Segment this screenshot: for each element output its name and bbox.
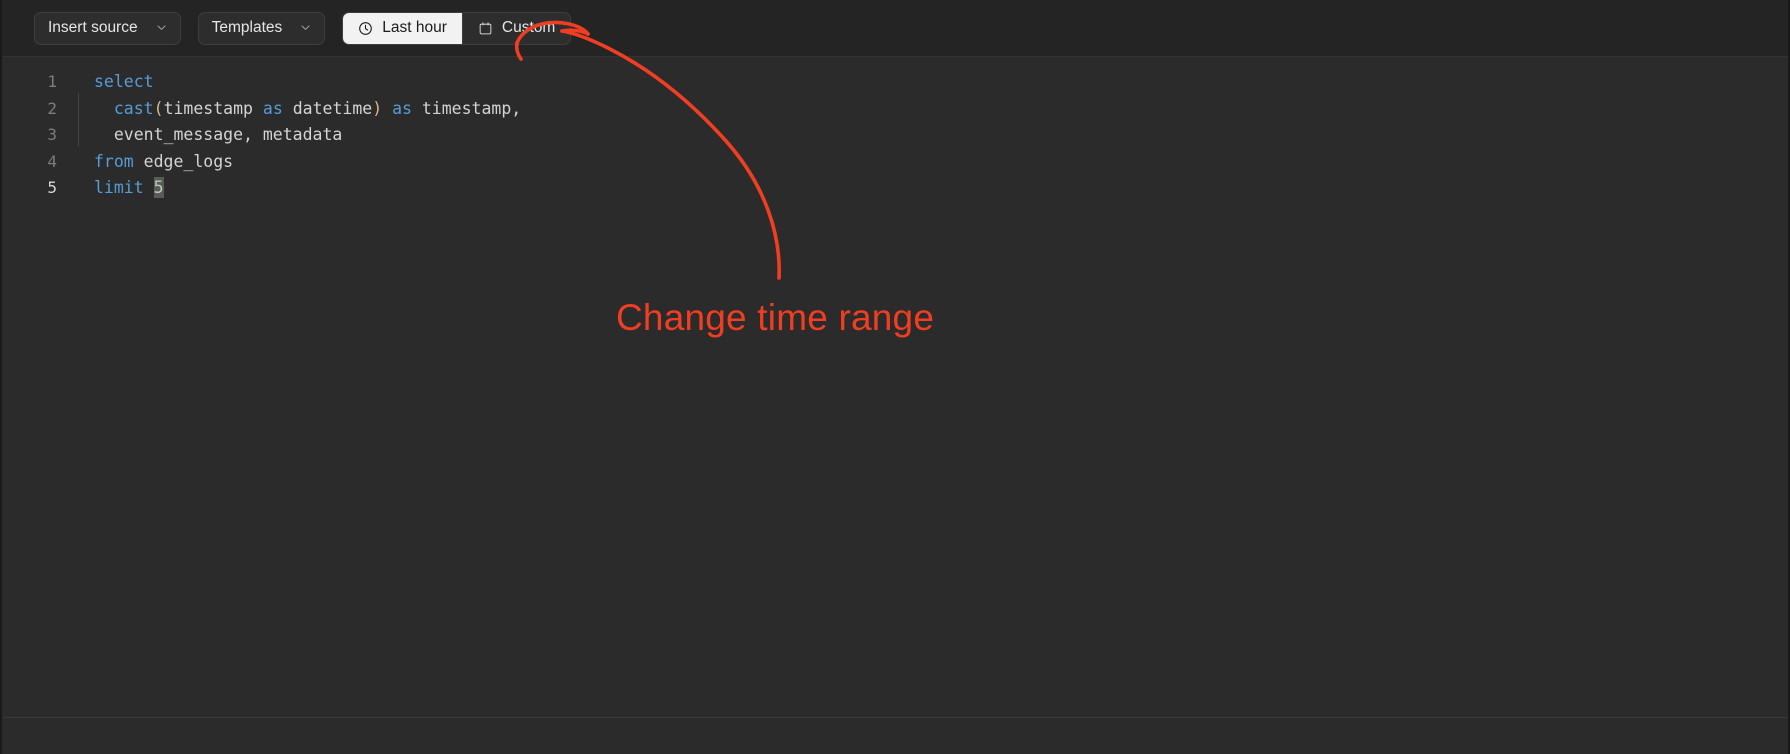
line-number: 4 — [2, 149, 57, 176]
token-keyword: select — [94, 72, 154, 91]
token-plain: datetime — [283, 99, 372, 118]
token-keyword: limit — [94, 178, 144, 197]
token-paren: ( — [154, 99, 164, 118]
token-keyword: as — [263, 99, 283, 118]
line-number: 5 — [2, 175, 57, 202]
code-line[interactable]: 3 event_message, metadata — [2, 122, 1788, 149]
indent-guide — [78, 119, 79, 146]
time-range-segmented-control: Last hour Custom — [342, 12, 571, 45]
sql-code-editor[interactable]: 1 select 2 cast(timestamp as datetime) a… — [2, 57, 1788, 735]
line-content: from edge_logs — [57, 149, 233, 176]
templates-label: Templates — [212, 20, 283, 36]
code-line-active[interactable]: 5 limit 5 — [2, 175, 1788, 202]
indent-guide — [78, 93, 79, 120]
line-content: select — [57, 69, 154, 96]
code-lines: 1 select 2 cast(timestamp as datetime) a… — [2, 69, 1788, 202]
code-line[interactable]: 4 from edge_logs — [2, 149, 1788, 176]
last-hour-label: Last hour — [382, 19, 447, 37]
token-plain — [382, 99, 392, 118]
token-plain: event_message, metadata — [94, 125, 342, 144]
code-line[interactable]: 2 cast(timestamp as datetime) as timesta… — [2, 96, 1788, 123]
token-plain — [94, 99, 114, 118]
token-function: cast — [114, 99, 154, 118]
editor-toolbar: Insert source Templates — [2, 0, 1788, 57]
line-content: limit 5 — [57, 175, 164, 202]
token-keyword: from — [94, 152, 134, 171]
custom-label: Custom — [502, 19, 555, 37]
token-plain: timestamp, — [412, 99, 521, 118]
last-hour-time-range-button[interactable]: Last hour — [343, 13, 462, 44]
code-line[interactable]: 1 select — [2, 69, 1788, 96]
line-number: 3 — [2, 122, 57, 149]
clock-icon — [358, 21, 373, 36]
line-content: cast(timestamp as datetime) as timestamp… — [57, 96, 521, 123]
line-content: event_message, metadata — [57, 122, 342, 149]
token-number-selected: 5 — [154, 177, 164, 198]
token-keyword: as — [392, 99, 412, 118]
token-paren: ) — [372, 99, 382, 118]
token-plain: timestamp — [164, 99, 263, 118]
insert-source-label: Insert source — [48, 20, 138, 36]
templates-button[interactable]: Templates — [198, 12, 326, 45]
calendar-icon — [478, 21, 493, 36]
editor-footer-strip — [2, 717, 1788, 735]
line-number: 1 — [2, 69, 57, 96]
chevron-down-icon — [300, 22, 311, 33]
sql-editor-page: Insert source Templates — [0, 0, 1790, 754]
custom-time-range-button[interactable]: Custom — [463, 13, 570, 44]
insert-source-button[interactable]: Insert source — [34, 12, 181, 45]
token-plain — [144, 178, 154, 197]
token-plain: edge_logs — [134, 152, 233, 171]
line-number: 2 — [2, 96, 57, 123]
chevron-down-icon — [156, 22, 167, 33]
